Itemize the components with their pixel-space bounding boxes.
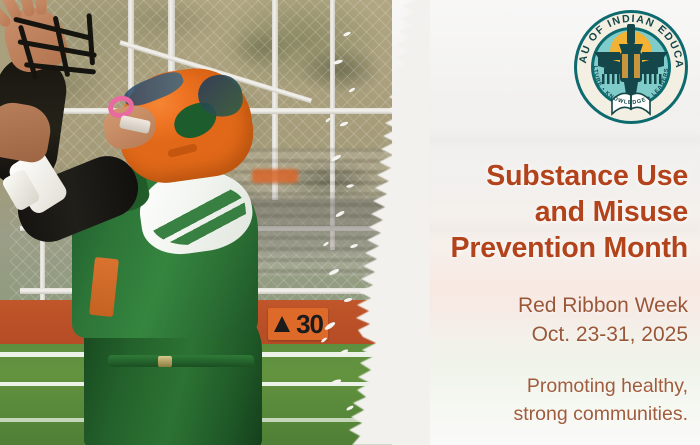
belt-buckle bbox=[158, 356, 172, 367]
subhead-line-2: Oct. 23-31, 2025 bbox=[388, 320, 688, 349]
campaign-tagline: Promoting healthy, strong communities. bbox=[388, 372, 688, 428]
headline-line-3: Prevention Month bbox=[388, 230, 688, 266]
tagline-line-2: strong communities. bbox=[388, 400, 688, 428]
player-belt bbox=[108, 355, 254, 367]
headline-line-2: and Misuse bbox=[388, 194, 688, 230]
helmet-vent bbox=[167, 143, 198, 158]
awareness-banner: 30 bbox=[0, 0, 700, 445]
text-content: Substance Use and Misuse Prevention Mont… bbox=[388, 0, 688, 445]
headline-line-1: Substance Use bbox=[388, 158, 688, 194]
tagline-line-1: Promoting healthy, bbox=[388, 372, 688, 400]
event-subtitle: Red Ribbon Week Oct. 23-31, 2025 bbox=[388, 291, 688, 349]
subhead-line-1: Red Ribbon Week bbox=[388, 291, 688, 320]
facemask bbox=[11, 11, 105, 98]
page-title: Substance Use and Misuse Prevention Mont… bbox=[388, 158, 688, 266]
